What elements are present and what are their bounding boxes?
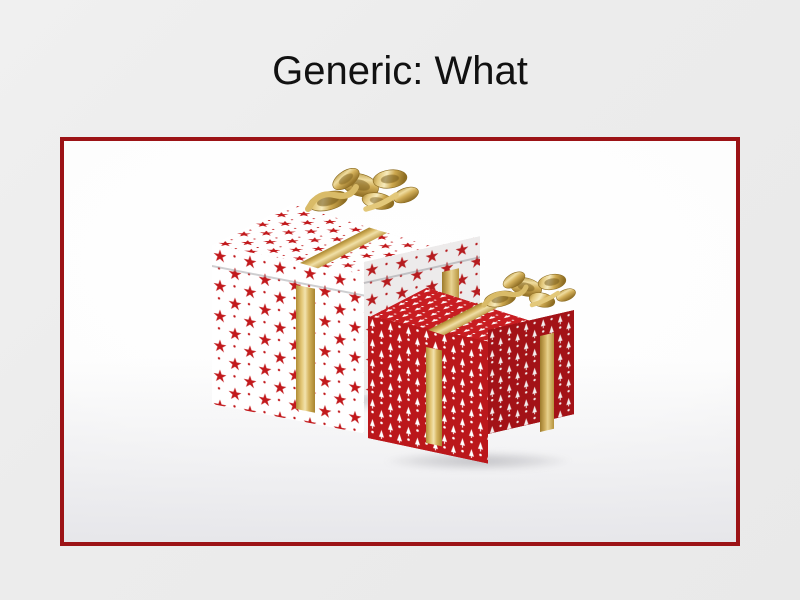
large-box-front-pattern — [212, 245, 364, 434]
small-box-bow — [480, 269, 576, 315]
small-box-ribbon-side — [540, 333, 554, 432]
page-title: Generic: What — [0, 45, 800, 97]
photo-canvas — [64, 141, 736, 542]
small-box-side-face — [488, 310, 574, 434]
large-bow-ribbon-icon — [302, 165, 420, 223]
large-box-front-face — [212, 245, 364, 434]
slide-canvas: Generic: What — [0, 0, 800, 600]
small-bow-ribbon-icon — [480, 269, 576, 317]
small-box-ribbon-front — [426, 347, 442, 446]
large-box-bow — [302, 165, 420, 221]
small-box-side-pattern — [488, 310, 574, 434]
image-frame — [60, 137, 740, 546]
large-box-ribbon-front — [296, 285, 315, 413]
